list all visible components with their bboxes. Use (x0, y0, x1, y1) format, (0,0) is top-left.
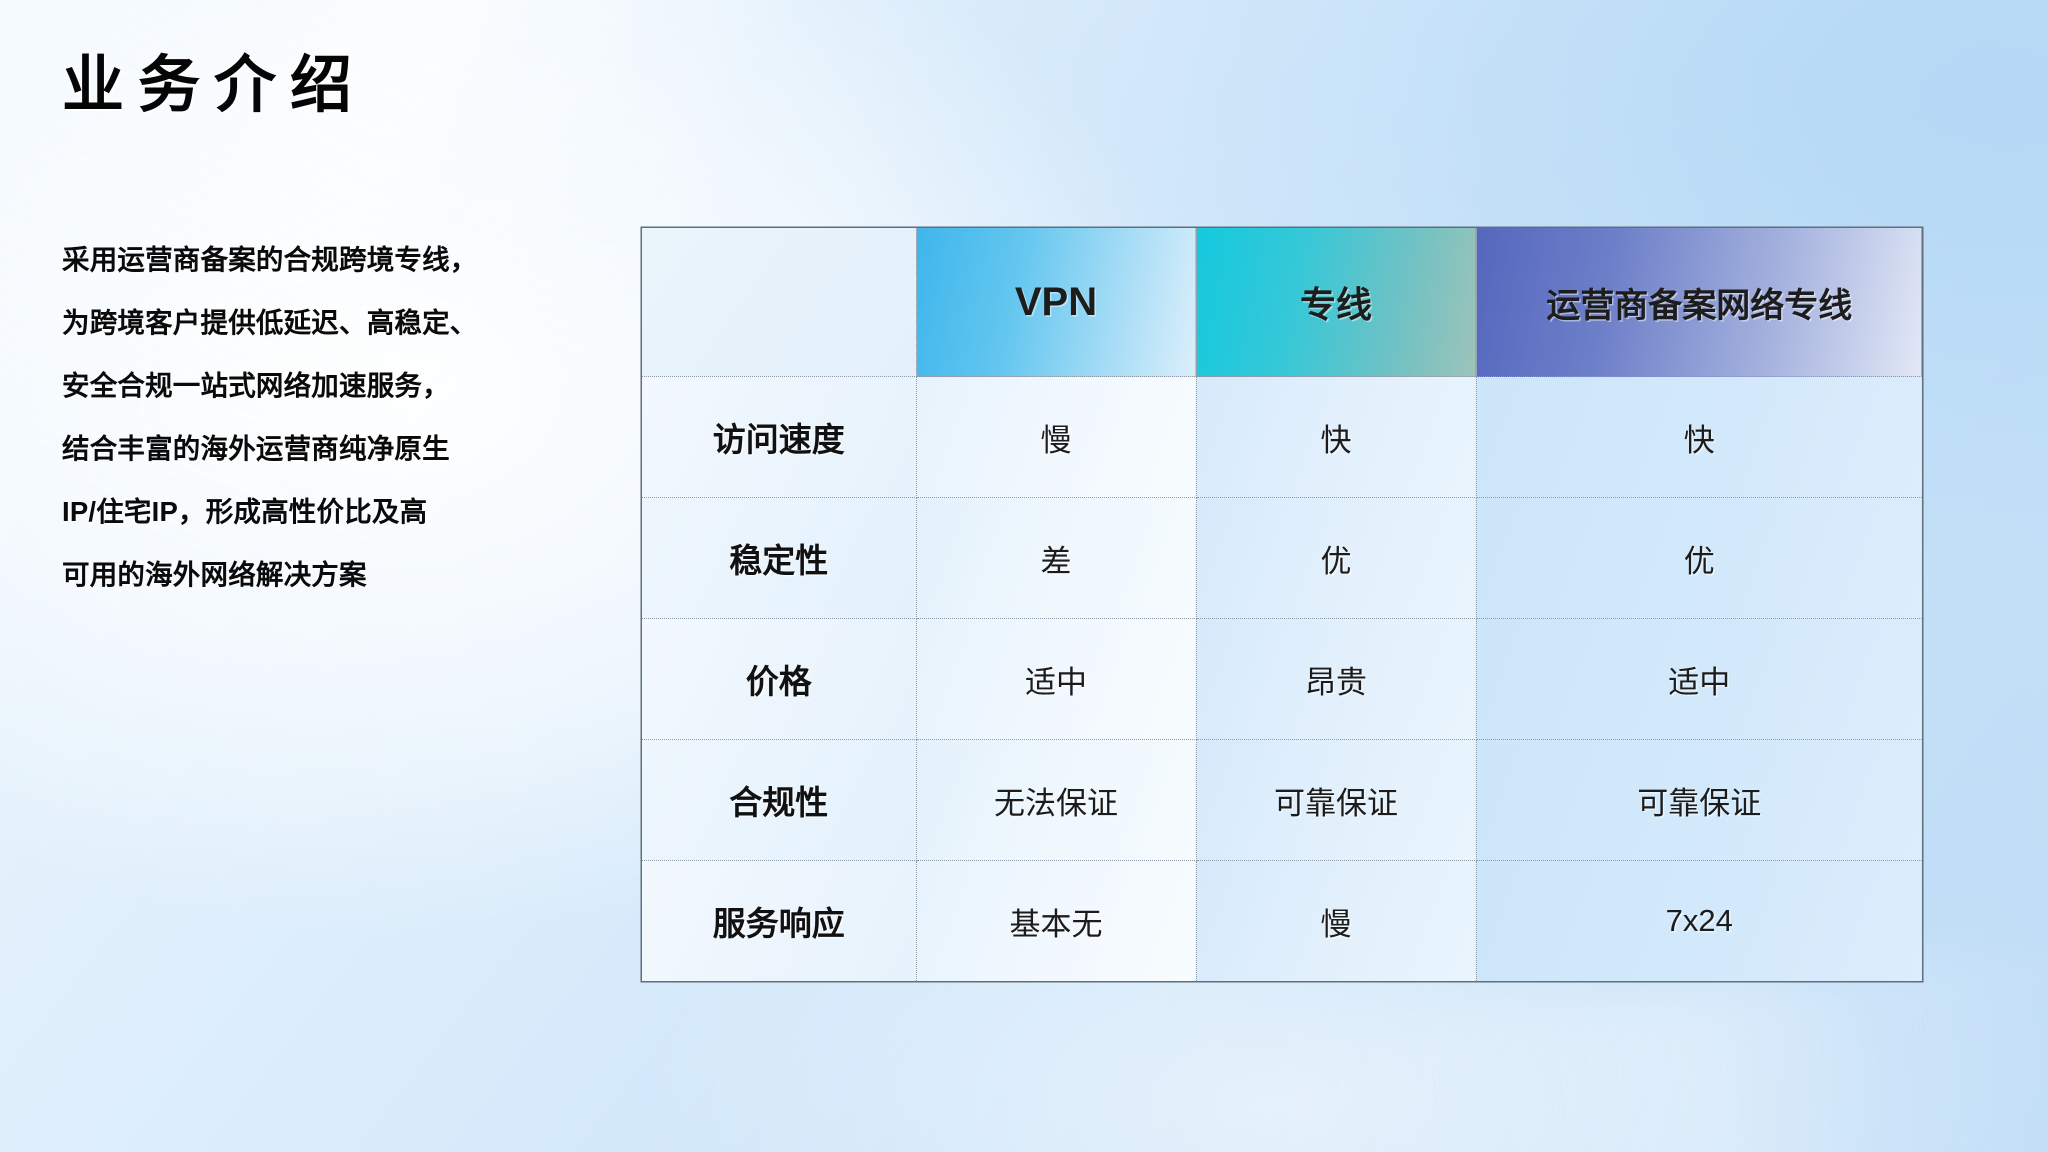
row-label-stability: 稳定性 (642, 498, 916, 619)
row-label-compliance: 合规性 (642, 740, 916, 861)
cell-value: 慢 (1196, 861, 1476, 982)
cell-value: 适中 (916, 619, 1196, 740)
table-header-operator-line: 运营商备案网络专线 (1476, 228, 1922, 377)
cell-value: 优 (1476, 498, 1922, 619)
intro-line: 安全合规一站式网络加速服务， (62, 354, 622, 417)
cell-value: 无法保证 (916, 740, 1196, 861)
cell-value: 快 (1476, 377, 1922, 498)
table-row: 服务响应 基本无 慢 7x24 (642, 861, 1922, 982)
table-header-row: VPN 专线 运营商备案网络专线 (642, 228, 1922, 377)
table-row: 访问速度 慢 快 快 (642, 377, 1922, 498)
cell-value: 昂贵 (1196, 619, 1476, 740)
table-row: 价格 适中 昂贵 适中 (642, 619, 1922, 740)
cell-value: 可靠保证 (1476, 740, 1922, 861)
intro-line: 结合丰富的海外运营商纯净原生 (62, 417, 622, 480)
cell-value: 可靠保证 (1196, 740, 1476, 861)
cell-value: 快 (1196, 377, 1476, 498)
table-header-dedicated-line: 专线 (1196, 228, 1476, 377)
row-label-access-speed: 访问速度 (642, 377, 916, 498)
table-row: 合规性 无法保证 可靠保证 可靠保证 (642, 740, 1922, 861)
table-row: 稳定性 差 优 优 (642, 498, 1922, 619)
intro-line: 可用的海外网络解决方案 (62, 543, 622, 606)
table-head: VPN 专线 运营商备案网络专线 (642, 228, 1922, 377)
intro-line: 采用运营商备案的合规跨境专线， (62, 228, 622, 291)
table-header-blank (642, 228, 916, 377)
row-label-service-response: 服务响应 (642, 861, 916, 982)
intro-line: 为跨境客户提供低延迟、高稳定、 (62, 291, 622, 354)
table-header-vpn: VPN (916, 228, 1196, 377)
comparison-table: VPN 专线 运营商备案网络专线 访问速度 慢 快 快 稳定性 差 优 优 价格… (642, 228, 1922, 981)
cell-value: 差 (916, 498, 1196, 619)
page-title: 业务介绍 (62, 52, 366, 120)
cell-value: 适中 (1476, 619, 1922, 740)
table-body: 访问速度 慢 快 快 稳定性 差 优 优 价格 适中 昂贵 适中 合规性 无法保… (642, 377, 1922, 982)
row-label-price: 价格 (642, 619, 916, 740)
cell-value: 基本无 (916, 861, 1196, 982)
intro-line: IP/住宅IP，形成高性价比及高 (62, 480, 622, 543)
intro-paragraph: 采用运营商备案的合规跨境专线， 为跨境客户提供低延迟、高稳定、 安全合规一站式网… (62, 228, 622, 606)
cell-value: 7x24 (1476, 861, 1922, 982)
cell-value: 优 (1196, 498, 1476, 619)
slide-canvas: 业务介绍 采用运营商备案的合规跨境专线， 为跨境客户提供低延迟、高稳定、 安全合… (0, 0, 2048, 1152)
cell-value: 慢 (916, 377, 1196, 498)
